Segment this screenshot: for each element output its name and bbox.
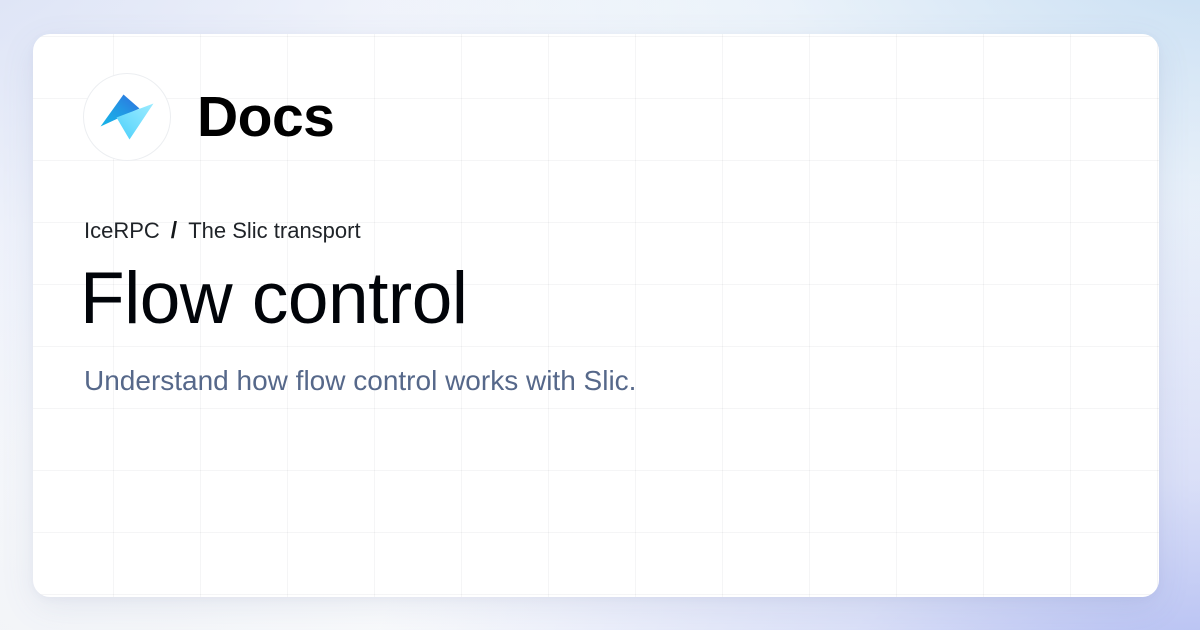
breadcrumb: IceRPC / The Slic transport: [84, 217, 1159, 245]
breadcrumb-current[interactable]: The Slic transport: [188, 218, 360, 244]
logo-avatar: [83, 73, 171, 161]
breadcrumb-separator: /: [171, 217, 177, 245]
brand-header: Docs: [83, 73, 1159, 161]
page-subtitle: Understand how flow control works with S…: [84, 363, 1159, 399]
page-title: Flow control: [80, 259, 1159, 339]
icerpc-paper-plane-icon: [96, 86, 158, 148]
content-card: Docs IceRPC / The Slic transport Flow co…: [33, 34, 1159, 597]
breadcrumb-root[interactable]: IceRPC: [84, 218, 160, 244]
brand-title: Docs: [197, 89, 334, 146]
og-image-canvas: Docs IceRPC / The Slic transport Flow co…: [0, 0, 1200, 630]
card-content: Docs IceRPC / The Slic transport Flow co…: [33, 34, 1159, 597]
